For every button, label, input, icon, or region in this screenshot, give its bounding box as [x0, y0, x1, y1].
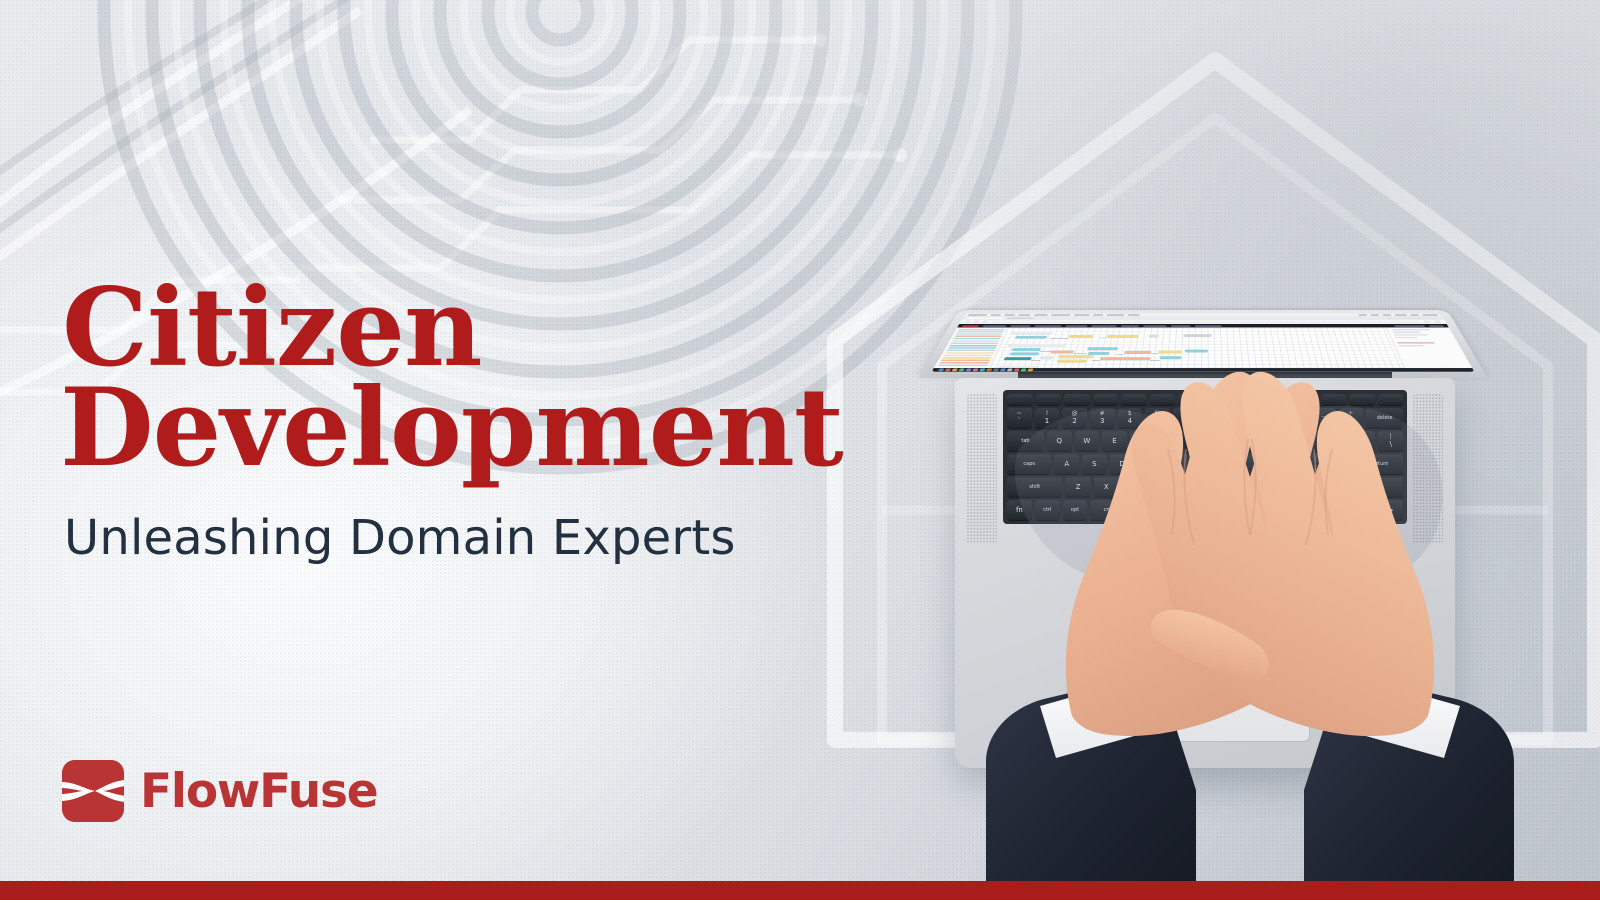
- palette-node[interactable]: [941, 360, 991, 361]
- keyboard-key[interactable]: U: [1213, 431, 1238, 451]
- keyboard-key[interactable]: >.: [1291, 477, 1316, 497]
- palette-node[interactable]: [945, 352, 994, 353]
- keyboard-key[interactable]: }]: [1351, 431, 1376, 451]
- flow-editor-canvas: [991, 327, 1404, 368]
- palette-node[interactable]: [958, 329, 1004, 330]
- keyboard-key[interactable]: [1235, 394, 1261, 405]
- key-label: 7: [1210, 418, 1214, 425]
- keyboard-key[interactable]: [1292, 394, 1318, 405]
- keyboard-key[interactable]: F: [1137, 454, 1162, 474]
- keyboard-key[interactable]: ~`: [1007, 408, 1032, 428]
- keyboard-key[interactable]: A: [1054, 454, 1079, 474]
- key-label: 6: [1183, 418, 1187, 425]
- laptop-lid: [918, 310, 1488, 378]
- marketing-banner: ~`!1@2#3$4%5^6&7*8(9)0_-+=deletetabQWERT…: [0, 0, 1600, 900]
- flowfuse-wordmark: FlowFuse: [140, 768, 377, 815]
- keyboard-key[interactable]: "': [1331, 454, 1356, 474]
- keyboard-key[interactable]: S: [1082, 454, 1107, 474]
- key-label: P: [1306, 438, 1310, 445]
- keyboard-key[interactable]: G: [1165, 454, 1190, 474]
- keyboard-key[interactable]: caps: [1007, 454, 1051, 474]
- key-label: K: [1258, 461, 1263, 468]
- key-shift-label: _: [1322, 411, 1325, 417]
- headline-line-1: Citizen: [62, 278, 802, 378]
- headline-line-2: Development: [60, 378, 802, 478]
- key-shift-label: {: [1334, 434, 1338, 440]
- key-label: ;: [1314, 464, 1316, 471]
- keyboard-key[interactable]: @2: [1062, 408, 1087, 428]
- keyboard-key[interactable]: !1: [1035, 408, 1060, 428]
- screen-flow-editor: [934, 327, 1473, 368]
- keyboard-key[interactable]: <,: [1263, 477, 1288, 497]
- keyboard-key[interactable]: [1264, 394, 1290, 405]
- flow-node[interactable]: [1185, 350, 1208, 353]
- keyboard-key[interactable]: opt: [1063, 500, 1088, 520]
- key-shift-label: $: [1128, 411, 1132, 417]
- key-shift-label: &: [1210, 411, 1215, 417]
- key-label: T: [1168, 438, 1172, 445]
- keyboard-key[interactable]: [1207, 394, 1233, 405]
- flowfuse-logo[interactable]: FlowFuse: [62, 760, 377, 822]
- key-label: fn: [1016, 507, 1023, 514]
- laptop-screen: [932, 313, 1475, 371]
- keyboard-key[interactable]: ◀: [1350, 500, 1375, 520]
- keyboard-key[interactable]: I: [1240, 431, 1265, 451]
- palette-node[interactable]: [946, 350, 995, 351]
- flow-node[interactable]: [1058, 355, 1093, 358]
- key-shift-label: +: [1348, 411, 1353, 417]
- key-label: Z: [1076, 484, 1081, 491]
- keyboard-key[interactable]: %5: [1145, 408, 1170, 428]
- key-label: G: [1175, 461, 1180, 468]
- keyboard-key[interactable]: [1349, 394, 1375, 405]
- keyboard-key[interactable]: (9: [1256, 408, 1281, 428]
- flow-node[interactable]: [1004, 357, 1032, 360]
- keyboard-key[interactable]: J: [1220, 454, 1245, 474]
- keyboard-key[interactable]: [1064, 394, 1090, 405]
- key-shift-label: *: [1239, 411, 1242, 417]
- keyboard-key[interactable]: [1131, 500, 1280, 520]
- content-block: Citizen Development Unleashing Domain Ex…: [62, 0, 822, 900]
- keyboard-key[interactable]: :;: [1303, 454, 1328, 474]
- key-label: F: [1148, 461, 1152, 468]
- keyboard-row[interactable]: ~`!1@2#3$4%5^6&7*8(9)0_-+=delete: [1007, 408, 1403, 428]
- keyboard-row[interactable]: capsASDFGHJKL:;"'return: [1007, 454, 1403, 474]
- keyboard-key[interactable]: E: [1102, 431, 1127, 451]
- key-shift-label: ?: [1330, 480, 1333, 486]
- key-label: 8: [1238, 418, 1242, 425]
- keyboard-key[interactable]: W: [1075, 431, 1100, 451]
- keyboard-key[interactable]: |\: [1378, 431, 1403, 451]
- key-shift-label: @: [1072, 411, 1078, 417]
- keyboard-key[interactable]: H: [1193, 454, 1218, 474]
- laptop-speaker-right: [1413, 394, 1443, 544]
- key-label: ]: [1362, 441, 1365, 448]
- palette-node[interactable]: [949, 345, 997, 346]
- key-label: W: [1083, 438, 1090, 445]
- key-shift-label: }: [1361, 434, 1365, 440]
- key-shift-label: %: [1155, 411, 1161, 417]
- keyboard-key[interactable]: +=: [1339, 408, 1364, 428]
- key-label: I: [1252, 438, 1254, 445]
- keyboard-key[interactable]: Y: [1185, 431, 1210, 451]
- key-label: cmd: [1104, 508, 1115, 513]
- keyboard-key[interactable]: shift: [1347, 477, 1402, 497]
- key-label: 1: [1045, 418, 1049, 425]
- key-label: X: [1104, 484, 1109, 491]
- palette-node[interactable]: [948, 347, 996, 348]
- palette-node[interactable]: [955, 336, 1002, 337]
- keyboard-key[interactable]: K: [1248, 454, 1273, 474]
- palette-node[interactable]: [952, 340, 1000, 341]
- keyboard-key[interactable]: ctrl: [1035, 500, 1060, 520]
- page-title: Citizen Development: [62, 278, 802, 479]
- keyboard-key[interactable]: [1007, 394, 1033, 405]
- palette-node[interactable]: [944, 355, 993, 356]
- keyboard-key[interactable]: ▶: [1378, 500, 1403, 520]
- keyboard-row[interactable]: fnctrloptcmdcmdopt◀▶: [1007, 500, 1403, 520]
- key-label: 9: [1266, 418, 1270, 425]
- key-label: ctrl: [1043, 508, 1051, 513]
- key-label: L: [1286, 461, 1290, 468]
- key-label: R: [1140, 438, 1145, 445]
- key-label: B: [1188, 484, 1193, 491]
- keyboard-key[interactable]: {[: [1323, 431, 1348, 451]
- key-label: \: [1390, 441, 1392, 448]
- page-subtitle: Unleashing Domain Experts: [64, 510, 736, 566]
- key-label: C: [1132, 484, 1137, 491]
- flow-node[interactable]: [1050, 351, 1074, 354]
- keyboard-row[interactable]: shiftZXCVBNM<,>.?/shift: [1007, 477, 1403, 497]
- flow-node[interactable]: [1068, 335, 1092, 338]
- keyboard-key[interactable]: D: [1110, 454, 1135, 474]
- keyboard-key[interactable]: [1121, 394, 1147, 405]
- key-label: V: [1160, 484, 1165, 491]
- key-shift-label: ": [1342, 457, 1345, 463]
- flow-node[interactable]: [1011, 332, 1052, 335]
- keyboard-key[interactable]: [1321, 394, 1347, 405]
- keyboard-key[interactable]: P: [1296, 431, 1321, 451]
- keyboard-key[interactable]: cmd: [1282, 500, 1319, 520]
- keyboard-key[interactable]: tab: [1007, 431, 1044, 451]
- key-shift-label: ): [1294, 411, 1296, 417]
- key-shift-label: #: [1100, 411, 1105, 417]
- key-label: tab: [1021, 439, 1029, 444]
- flow-node[interactable]: [1124, 351, 1151, 354]
- keyboard-key[interactable]: shift: [1007, 477, 1062, 497]
- keyboard-key[interactable]: O: [1268, 431, 1293, 451]
- key-label: [: [1334, 441, 1337, 448]
- palette-node[interactable]: [942, 357, 992, 358]
- keyboard-key[interactable]: M: [1235, 477, 1260, 497]
- key-label: M: [1244, 484, 1250, 491]
- key-shift-label: (: [1267, 411, 1269, 417]
- flow-node[interactable]: [1100, 357, 1150, 360]
- keyboard-key[interactable]: C: [1122, 477, 1147, 497]
- palette-node[interactable]: [956, 333, 1003, 334]
- key-label: shift: [1370, 485, 1381, 490]
- hero-photo-hands-typing-laptop: ~`!1@2#3$4%5^6&7*8(9)0_-+=deletetabQWERT…: [900, 150, 1600, 900]
- laptop-base: ~`!1@2#3$4%5^6&7*8(9)0_-+=deletetabQWERT…: [955, 378, 1455, 768]
- keyboard-key[interactable]: R: [1130, 431, 1155, 451]
- keyboard-key[interactable]: [1178, 394, 1204, 405]
- flow-node[interactable]: [1149, 335, 1158, 338]
- flow-node[interactable]: [1087, 347, 1118, 350]
- key-label: ◀: [1360, 507, 1365, 514]
- key-shift-label: :: [1315, 457, 1317, 463]
- key-label: shift: [1029, 485, 1040, 490]
- flow-node[interactable]: [1015, 336, 1047, 339]
- key-label: -: [1322, 418, 1325, 425]
- keyboard-row[interactable]: tabQWERTYUIOP{[}]|\: [1007, 431, 1403, 451]
- key-label: `: [1018, 418, 1022, 425]
- key-shift-label: <: [1273, 480, 1278, 486]
- keyboard-key[interactable]: [1093, 394, 1119, 405]
- flow-node[interactable]: [1107, 335, 1139, 338]
- keyboard-key[interactable]: T: [1157, 431, 1182, 451]
- key-label: N: [1216, 484, 1221, 491]
- flow-node[interactable]: [1010, 352, 1040, 355]
- key-label: O: [1277, 438, 1283, 445]
- key-shift-label: >: [1301, 480, 1306, 486]
- keyboard-key[interactable]: opt: [1323, 500, 1348, 520]
- flow-node[interactable]: [1160, 356, 1181, 359]
- keyboard-key[interactable]: B: [1178, 477, 1203, 497]
- keyboard-key[interactable]: )0: [1283, 408, 1308, 428]
- keyboard-key[interactable]: return: [1359, 454, 1403, 474]
- flow-node[interactable]: [1008, 344, 1067, 347]
- keyboard-key[interactable]: X: [1094, 477, 1119, 497]
- flowfuse-fuse-mark-icon: [62, 760, 124, 822]
- keyboard-key[interactable]: delete: [1366, 408, 1403, 428]
- key-label: 4: [1128, 418, 1132, 425]
- palette-node[interactable]: [951, 343, 999, 344]
- keyboard-key[interactable]: $4: [1118, 408, 1143, 428]
- key-shift-label: ^: [1183, 411, 1188, 417]
- key-shift-label: |: [1390, 434, 1392, 440]
- key-label: U: [1222, 438, 1227, 445]
- flow-node[interactable]: [1158, 351, 1181, 354]
- keyboard-key[interactable]: #3: [1090, 408, 1115, 428]
- flow-node[interactable]: [1184, 334, 1211, 337]
- bottom-accent-bar: [0, 881, 1600, 900]
- key-label: Y: [1195, 438, 1199, 445]
- key-label: 3: [1100, 418, 1104, 425]
- keyboard-key[interactable]: V: [1150, 477, 1175, 497]
- key-label: 5: [1155, 418, 1159, 425]
- keyboard-key[interactable]: fn: [1007, 500, 1032, 520]
- keyboard-key[interactable]: [1378, 394, 1404, 405]
- keyboard-key[interactable]: cmd: [1090, 500, 1127, 520]
- keyboard-key[interactable]: Z: [1065, 477, 1090, 497]
- key-label: D: [1119, 461, 1124, 468]
- key-label: =: [1348, 418, 1354, 425]
- key-label: S: [1092, 461, 1096, 468]
- key-label: delete: [1377, 416, 1393, 421]
- keyboard-key[interactable]: _-: [1311, 408, 1336, 428]
- laptop-trackpad[interactable]: [1100, 597, 1310, 742]
- key-label: .: [1303, 487, 1305, 494]
- keyboard-key[interactable]: L: [1276, 454, 1301, 474]
- palette-node[interactable]: [938, 365, 988, 366]
- key-label: Q: [1056, 438, 1062, 445]
- keyboard-key[interactable]: [1150, 394, 1176, 405]
- key-label: caps: [1023, 462, 1035, 467]
- keyboard-key[interactable]: ?/: [1319, 477, 1344, 497]
- key-label: ': [1342, 464, 1344, 471]
- key-label: ▶: [1388, 507, 1393, 514]
- keyboard-key[interactable]: *8: [1228, 408, 1253, 428]
- palette-node[interactable]: [957, 331, 1004, 332]
- key-label: ,: [1274, 487, 1276, 494]
- keyboard-key[interactable]: ^6: [1173, 408, 1198, 428]
- key-label: J: [1232, 461, 1234, 468]
- key-label: H: [1202, 461, 1207, 468]
- keyboard-key[interactable]: N: [1206, 477, 1231, 497]
- flow-node[interactable]: [1012, 348, 1041, 351]
- key-label: 2: [1072, 418, 1076, 425]
- keyboard-key[interactable]: &7: [1200, 408, 1225, 428]
- keyboard-key[interactable]: Q: [1047, 431, 1072, 451]
- flow-node[interactable]: [1057, 360, 1087, 363]
- laptop-keyboard[interactable]: ~`!1@2#3$4%5^6&7*8(9)0_-+=deletetabQWERT…: [1003, 390, 1407, 524]
- palette-node[interactable]: [953, 338, 1000, 339]
- key-label: /: [1331, 487, 1333, 494]
- key-label: opt: [1331, 508, 1339, 513]
- key-label: cmd: [1296, 508, 1307, 513]
- key-shift-label: !: [1046, 411, 1048, 417]
- keyboard-key[interactable]: [1036, 394, 1062, 405]
- key-label: E: [1112, 438, 1116, 445]
- key-label: A: [1064, 461, 1069, 468]
- laptop-speaker-left: [967, 394, 997, 544]
- flow-node[interactable]: [1041, 356, 1053, 359]
- keyboard-function-row[interactable]: [1007, 394, 1403, 405]
- palette-node[interactable]: [939, 362, 989, 363]
- key-shift-label: ~: [1017, 411, 1022, 417]
- key-label: opt: [1071, 508, 1079, 513]
- key-label: 0: [1293, 418, 1297, 425]
- key-label: return: [1373, 462, 1388, 467]
